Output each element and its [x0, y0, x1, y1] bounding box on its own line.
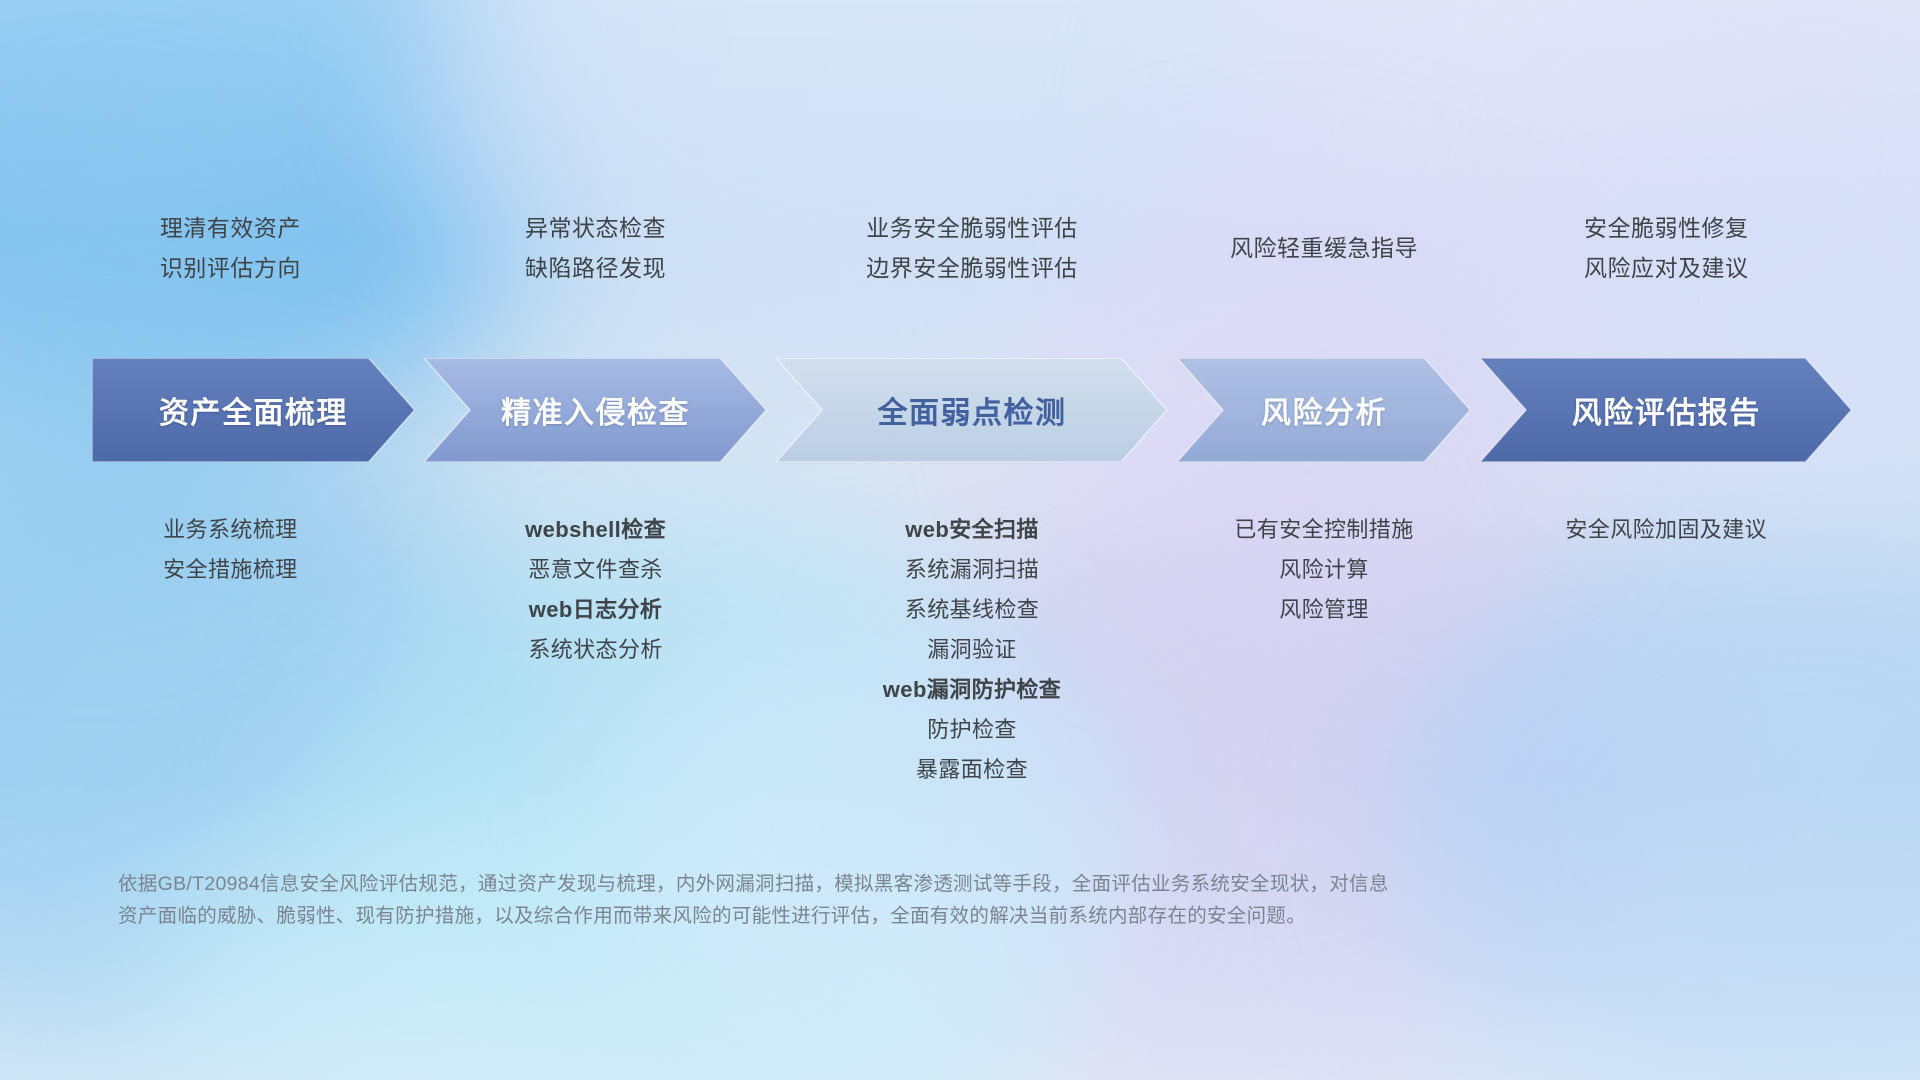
stage-chevron-intrusion-check[interactable]: 精准入侵检查 [424, 358, 766, 462]
stage-top-points-risk-report: 安全脆弱性修复风险应对及建议 [1406, 208, 1920, 288]
stage-chevron-asset-inventory[interactable]: 资产全面梳理 [92, 358, 415, 462]
bottom-point: 暴露面检查 [712, 750, 1232, 790]
stage-chevron-risk-analysis[interactable]: 风险分析 [1177, 358, 1470, 462]
bottom-point: 防护检查 [712, 710, 1232, 750]
process-chevron-banner: 资产全面梳理 精准入侵检查 全面弱点检测 [92, 358, 1852, 462]
stage-chevron-risk-report[interactable]: 风险评估报告 [1480, 358, 1852, 462]
stage-bottom-points-risk-report: 安全风险加固及建议 [1406, 510, 1920, 550]
top-point: 风险应对及建议 [1406, 248, 1920, 288]
bottom-point: 漏洞验证 [712, 630, 1232, 670]
bottom-point: 风险管理 [1064, 590, 1584, 630]
footer-line-1: 依据GB/T20984信息安全风险评估规范，通过资产发现与梳理，内外网漏洞扫描，… [118, 868, 1798, 900]
stage-title: 全面弱点检测 [877, 388, 1066, 432]
stage-title: 资产全面梳理 [159, 388, 348, 432]
stage-title: 精准入侵检查 [501, 388, 690, 432]
bottom-point: web漏洞防护检查 [712, 670, 1232, 710]
stage-title: 风险评估报告 [1572, 388, 1761, 432]
top-point: 安全脆弱性修复 [1406, 208, 1920, 248]
bottom-point: 安全风险加固及建议 [1406, 510, 1920, 550]
footer-line-2: 资产面临的威胁、脆弱性、现有防护措施，以及综合作用而带来风险的可能性进行评估，全… [118, 900, 1798, 932]
stage-chevron-weakness-detection[interactable]: 全面弱点检测 [776, 358, 1167, 462]
bottom-point: 风险计算 [1064, 550, 1584, 590]
stage-title: 风险分析 [1261, 388, 1387, 432]
footer-description: 依据GB/T20984信息安全风险评估规范，通过资产发现与梳理，内外网漏洞扫描，… [118, 868, 1798, 932]
